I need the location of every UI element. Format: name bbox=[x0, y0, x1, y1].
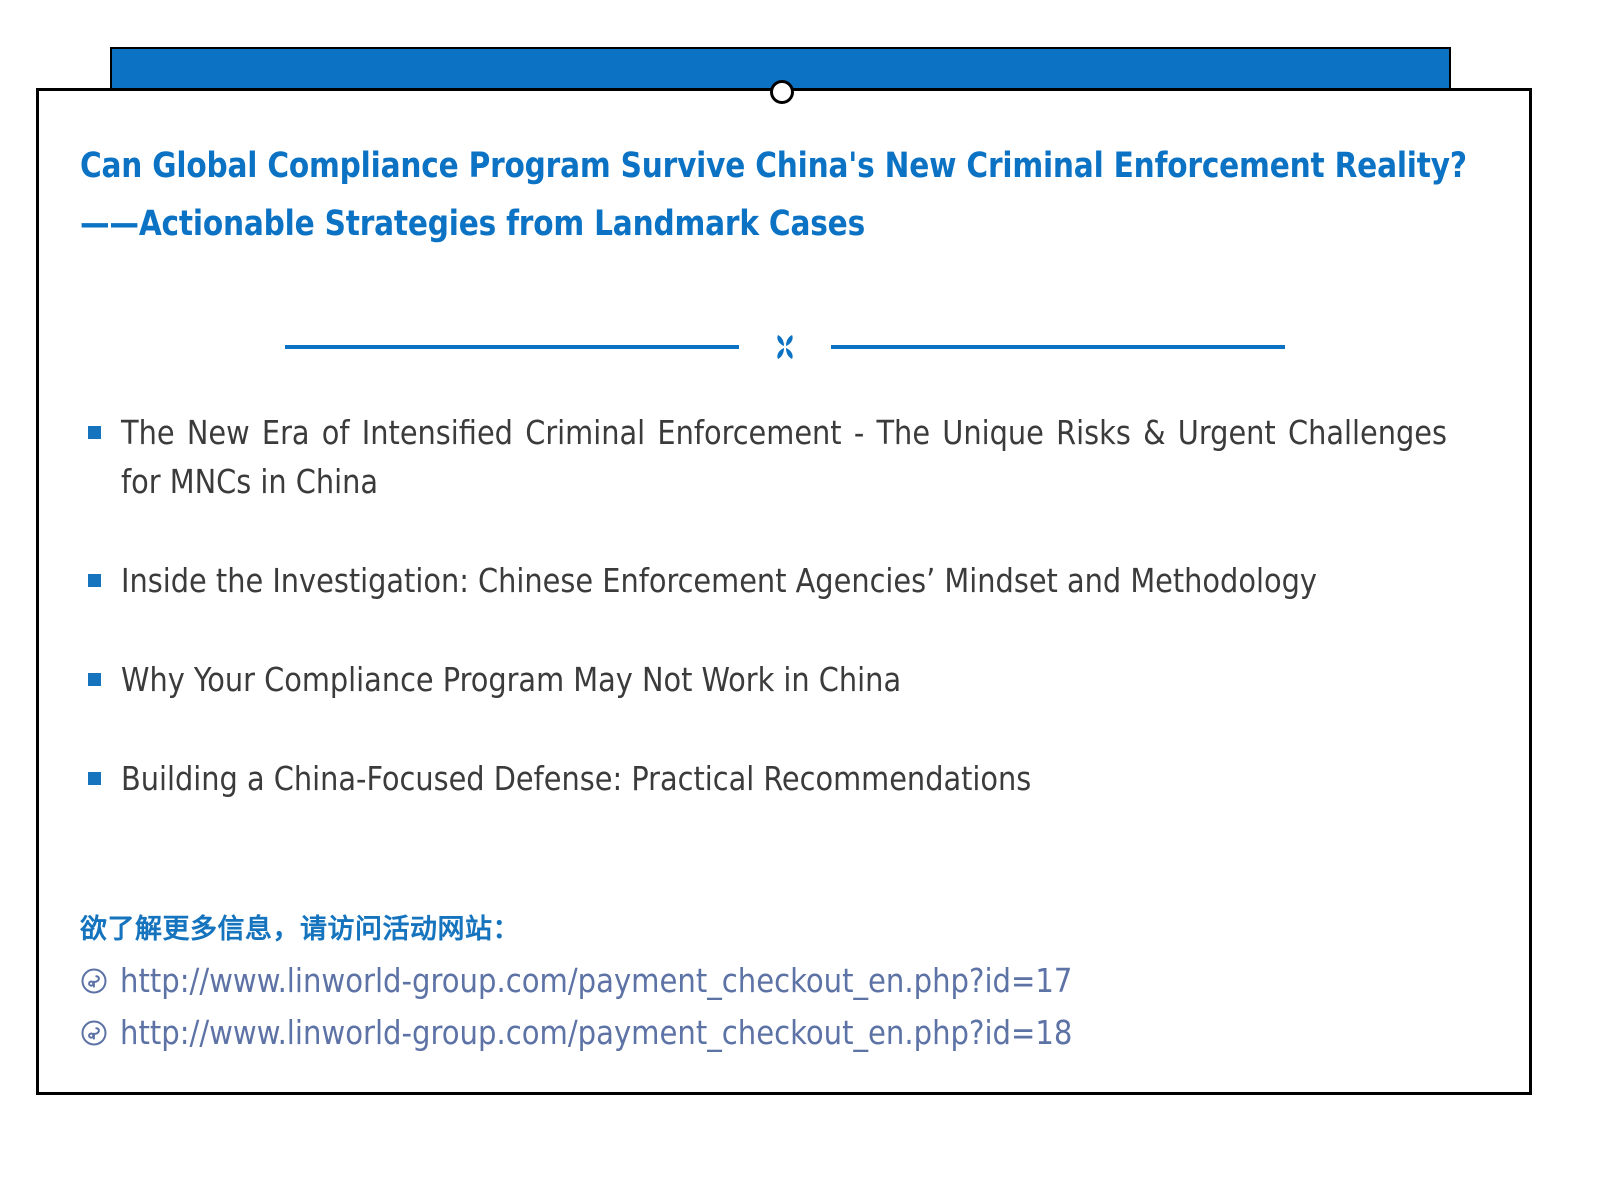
page-title: Can Global Compliance Program Survive Ch… bbox=[80, 137, 1490, 253]
title-line-1: Can Global Compliance Program Survive Ch… bbox=[80, 137, 1405, 195]
square-bullet-icon bbox=[88, 772, 101, 785]
footer-block: 欲了解更多信息，请访问活动网站： http://www.linworld-gro… bbox=[80, 908, 1480, 1056]
event-link-url[interactable]: http://www.linworld-group.com/payment_ch… bbox=[120, 1010, 1072, 1056]
event-link-row[interactable]: http://www.linworld-group.com/payment_ch… bbox=[80, 1010, 1480, 1056]
list-item: Inside the Investigation: Chinese Enforc… bbox=[88, 556, 1488, 605]
list-item-label: Building a China-Focused Defense: Practi… bbox=[121, 754, 1447, 803]
list-item: Building a China-Focused Defense: Practi… bbox=[88, 754, 1488, 803]
list-item-label: Inside the Investigation: Chinese Enforc… bbox=[121, 556, 1447, 605]
circled-link-icon bbox=[80, 1019, 108, 1047]
divider-rule-left bbox=[285, 345, 739, 349]
list-item: The New Era of Intensified Criminal Enfo… bbox=[88, 408, 1488, 506]
square-bullet-icon bbox=[88, 574, 101, 587]
section-divider bbox=[285, 330, 1285, 364]
footer-heading: 欲了解更多信息，请访问活动网站： bbox=[80, 908, 1480, 952]
list-item-label: The New Era of Intensified Criminal Enfo… bbox=[121, 408, 1447, 506]
event-link-row[interactable]: http://www.linworld-group.com/payment_ch… bbox=[80, 958, 1480, 1004]
event-link-url[interactable]: http://www.linworld-group.com/payment_ch… bbox=[120, 958, 1072, 1004]
four-petal-flower-icon bbox=[771, 333, 799, 361]
binder-hole-icon bbox=[770, 80, 794, 104]
list-item-label: Why Your Compliance Program May Not Work… bbox=[121, 655, 1447, 704]
title-line-2: ——Actionable Strategies from Landmark Ca… bbox=[80, 195, 1405, 253]
square-bullet-icon bbox=[88, 673, 101, 686]
square-bullet-icon bbox=[88, 426, 101, 439]
slide-canvas: Can Global Compliance Program Survive Ch… bbox=[0, 0, 1599, 1182]
list-item: Why Your Compliance Program May Not Work… bbox=[88, 655, 1488, 704]
agenda-list: The New Era of Intensified Criminal Enfo… bbox=[88, 408, 1488, 803]
circled-link-icon bbox=[80, 967, 108, 995]
divider-rule-right bbox=[831, 345, 1285, 349]
